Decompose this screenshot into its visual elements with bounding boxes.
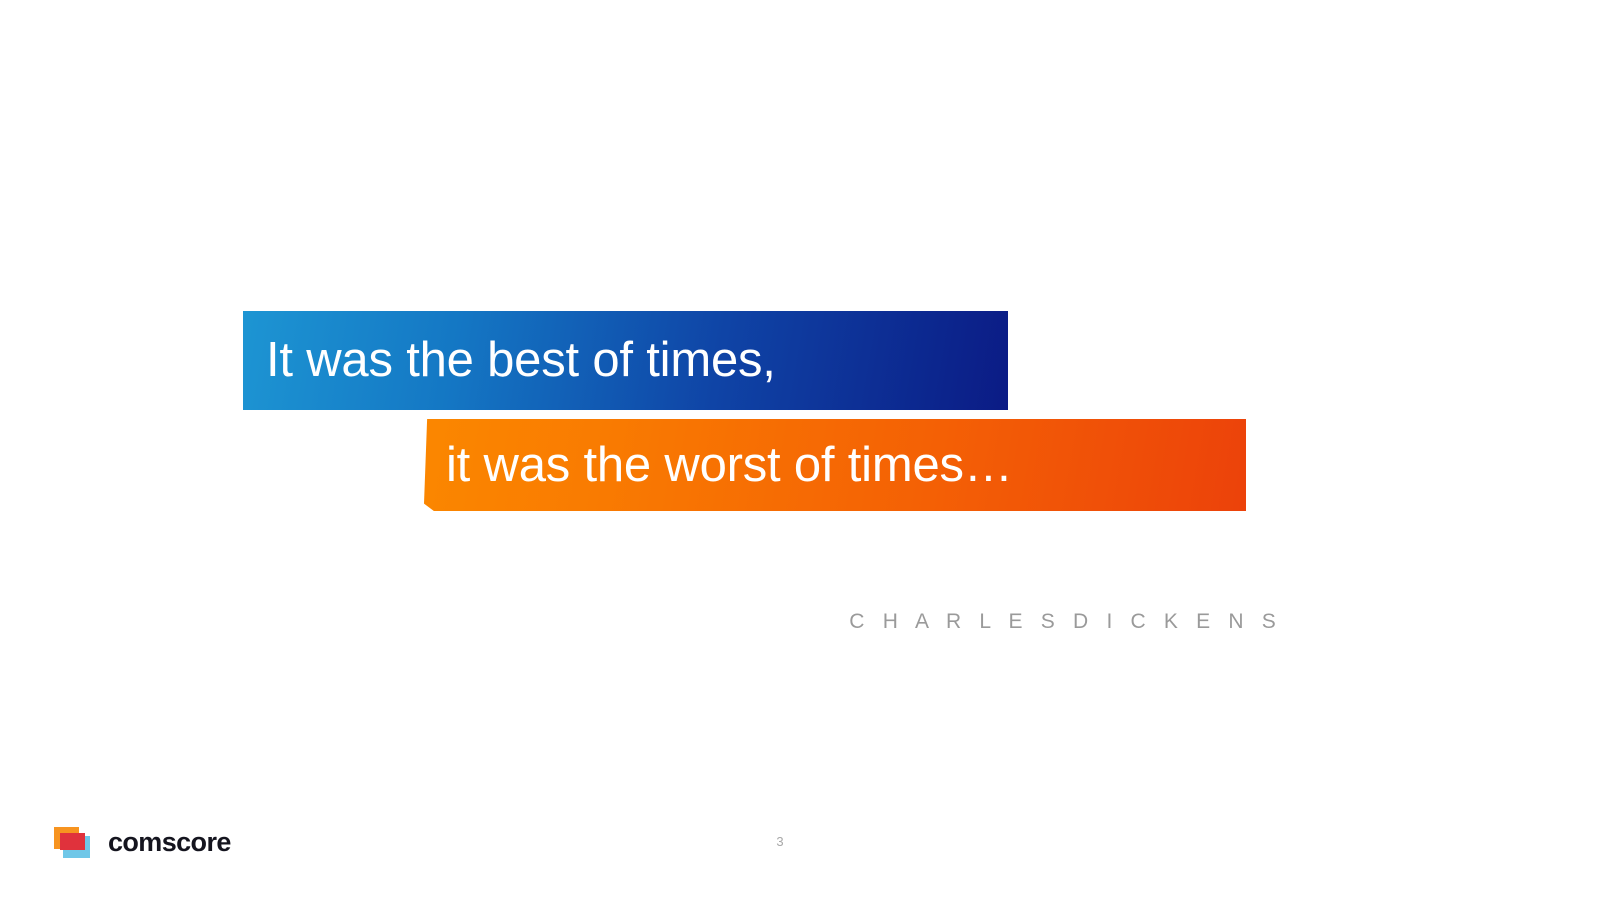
quote-band-blue: It was the best of times,: [243, 311, 1008, 410]
quote-line-2-text: it was the worst of times…: [446, 441, 1013, 490]
quote-band-orange: it was the worst of times…: [424, 419, 1246, 511]
quote-band-orange-text-wrap: it was the worst of times…: [424, 419, 1246, 511]
page-number: 3: [756, 834, 804, 849]
quote-line-1-text: It was the best of times,: [266, 336, 776, 385]
quote-attribution: C H A R L E S D I C K E N S: [700, 610, 1282, 634]
comscore-logo-mark-icon: [54, 825, 96, 859]
comscore-logo: comscore: [54, 824, 231, 860]
comscore-wordmark: comscore: [108, 829, 231, 856]
slide-canvas: It was the best of times, it was the wor…: [0, 0, 1600, 900]
logo-square-red-icon: [60, 833, 85, 850]
